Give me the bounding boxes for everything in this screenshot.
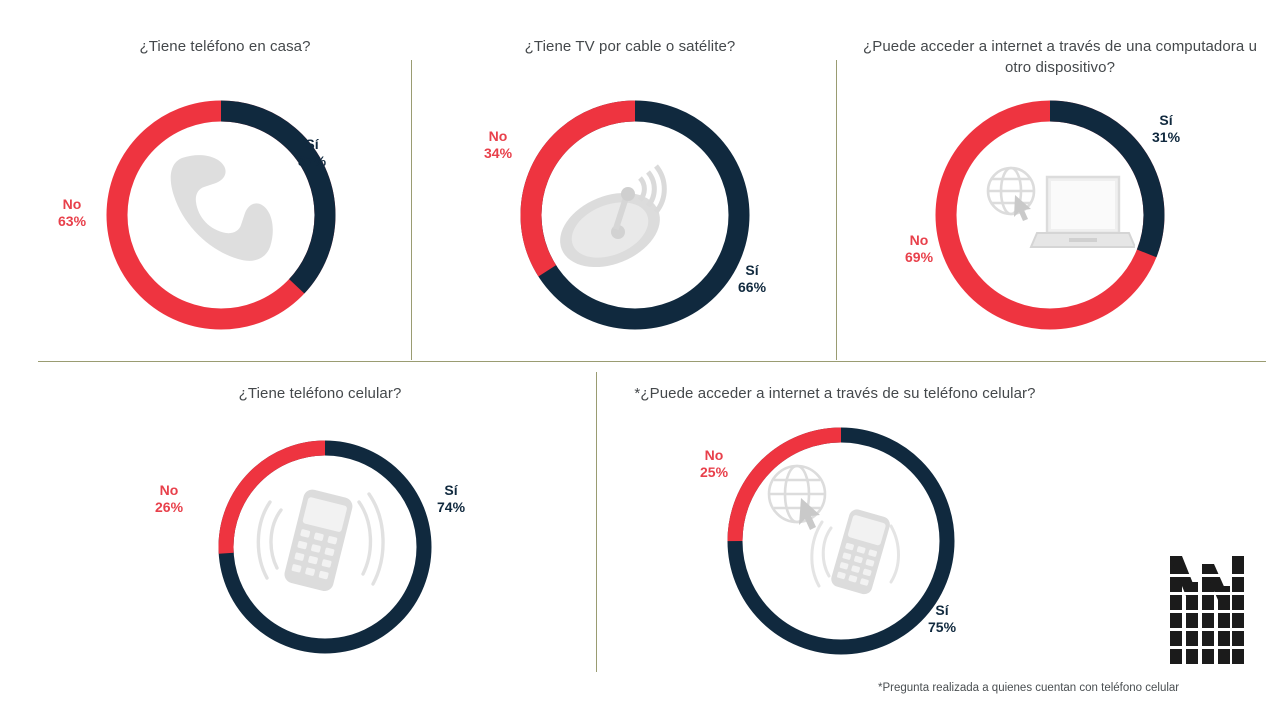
label-value-si: 66% (738, 279, 766, 296)
label-key-si: Sí (928, 602, 956, 619)
label-no-tv-cable-satelite: No 34% (484, 128, 512, 162)
label-value-si: 74% (437, 499, 465, 516)
divider-vertical-1 (411, 60, 412, 360)
label-value-no: 34% (484, 145, 512, 162)
donut-chart-tv-cable-satelite (510, 90, 760, 340)
label-key-no: No (58, 196, 86, 213)
divider-horizontal (38, 361, 1266, 362)
chart-title-internet-computadora: ¿Puede acceder a internet a través de un… (860, 36, 1260, 78)
chart-title-telefono-casa: ¿Tiene teléfono en casa? (40, 36, 410, 57)
donut-chart-telefono-casa (96, 90, 346, 340)
label-value-no: 26% (155, 499, 183, 516)
label-value-no: 69% (905, 249, 933, 266)
label-key-no: No (905, 232, 933, 249)
label-key-si: Sí (298, 136, 326, 153)
label-key-si: Sí (437, 482, 465, 499)
divider-vertical-2 (836, 60, 837, 360)
label-value-si: 31% (1152, 129, 1180, 146)
label-no-internet-celular: No 25% (700, 447, 728, 481)
label-key-no: No (155, 482, 183, 499)
label-value-si: 37% (298, 153, 326, 170)
label-no-internet-computadora: No 69% (905, 232, 933, 266)
label-si-telefono-casa: Sí 37% (298, 136, 326, 170)
label-key-si: Sí (1152, 112, 1180, 129)
label-value-si: 75% (928, 619, 956, 636)
label-value-no: 25% (700, 464, 728, 481)
label-key-no: No (700, 447, 728, 464)
infographic-canvas: ¿Tiene teléfono en casa? Sí 37% No (0, 0, 1280, 720)
label-si-internet-celular: Sí 75% (928, 602, 956, 636)
divider-vertical-3 (596, 372, 597, 672)
chart-title-tv-cable-satelite: ¿Tiene TV por cable o satélite? (440, 36, 820, 57)
label-no-telefono-celular: No 26% (155, 482, 183, 516)
organization-logo (1168, 556, 1246, 669)
label-no-telefono-casa: No 63% (58, 196, 86, 230)
label-key-no: No (484, 128, 512, 145)
footnote-text: *Pregunta realizada a quienes cuentan co… (878, 682, 1179, 694)
label-si-internet-computadora: Sí 31% (1152, 112, 1180, 146)
label-key-si: Sí (738, 262, 766, 279)
donut-chart-telefono-celular (210, 432, 440, 662)
chart-title-internet-celular: *¿Puede acceder a internet a través de s… (615, 383, 1055, 404)
label-si-tv-cable-satelite: Sí 66% (738, 262, 766, 296)
donut-chart-internet-computadora (925, 90, 1175, 340)
label-value-no: 63% (58, 213, 86, 230)
chart-title-telefono-celular: ¿Tiene teléfono celular? (130, 383, 510, 404)
label-si-telefono-celular: Sí 74% (437, 482, 465, 516)
